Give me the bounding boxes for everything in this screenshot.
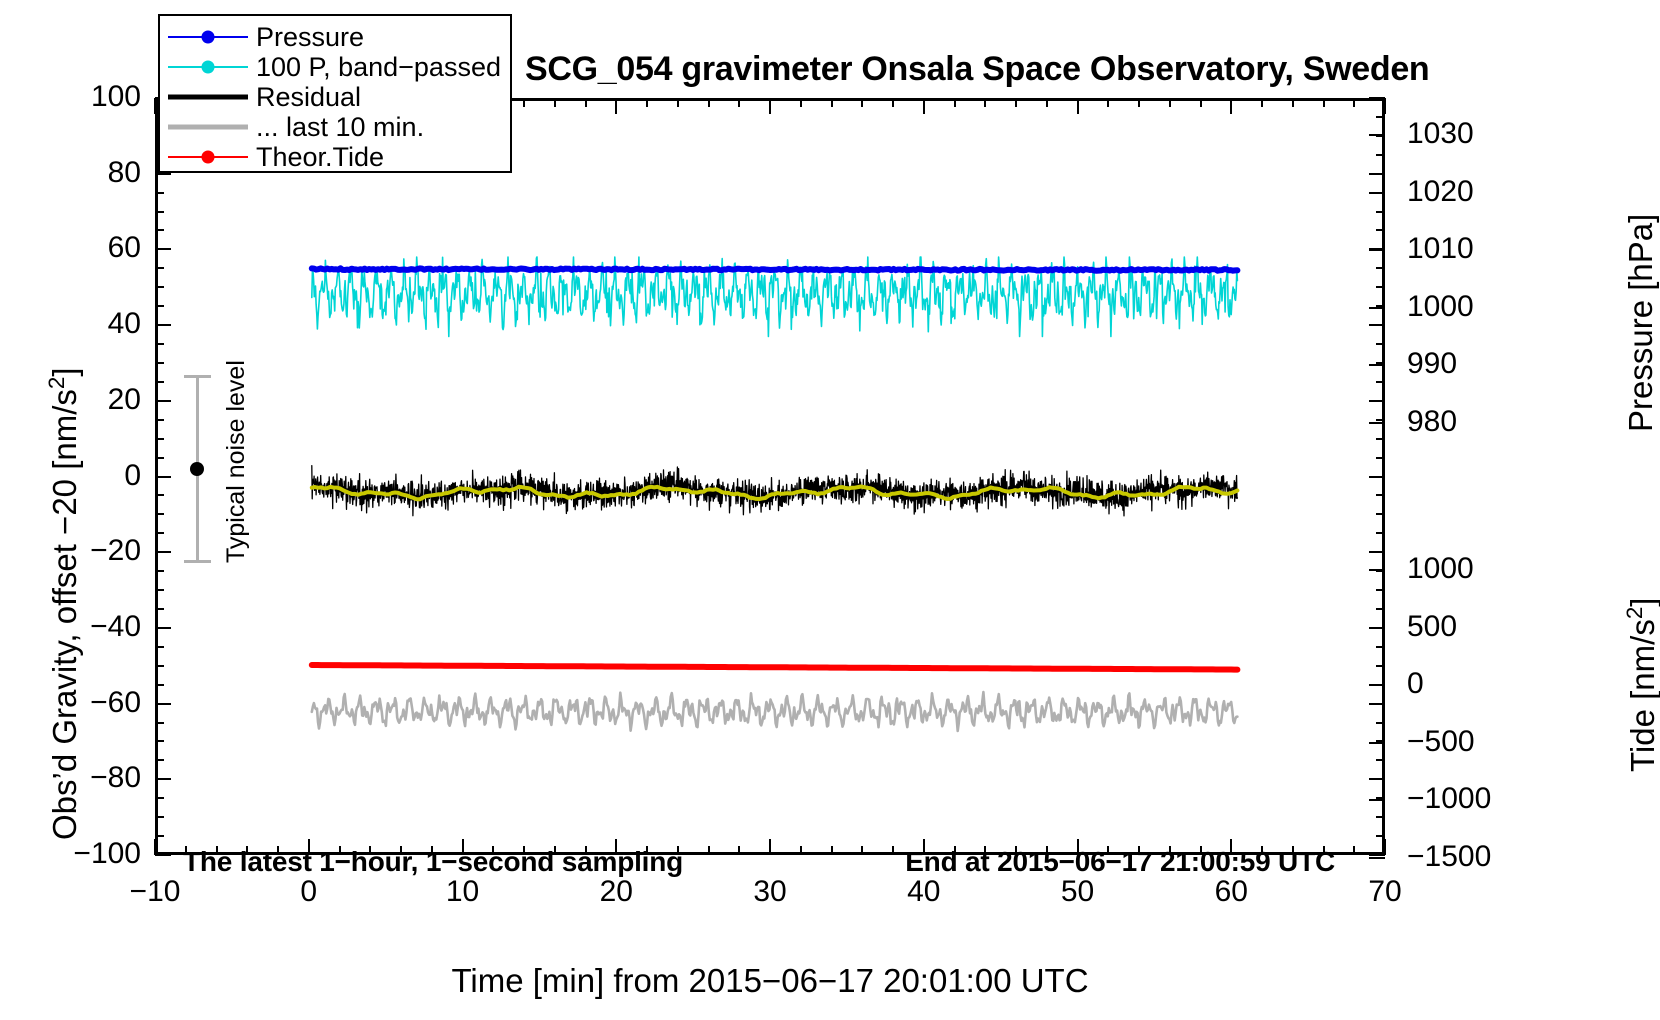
y-right-tick — [1376, 532, 1385, 534]
x-bottom-tick — [738, 846, 740, 855]
x-tick-label: 0 — [249, 877, 369, 907]
y-left-tick — [155, 267, 164, 269]
legend-line — [168, 125, 248, 130]
x-tick-label: 50 — [1018, 877, 1138, 907]
y-right-tick — [1369, 778, 1385, 780]
legend-label: Theor.Tide — [256, 144, 384, 171]
legend-swatch — [160, 112, 256, 142]
y-right-tick — [1376, 835, 1385, 837]
y-left-tick — [155, 438, 164, 440]
y-right-tick — [1376, 438, 1385, 440]
y-left-tick — [155, 570, 164, 572]
y-left-tick-label: 40 — [23, 309, 141, 339]
data-series-layer — [158, 101, 1382, 852]
x-top-tick — [738, 98, 740, 107]
y-right-tide-tick-label: −500 — [1407, 727, 1547, 757]
y-right-tick — [1376, 494, 1385, 496]
y-axis-tide-title: Tide [nm/s2] — [1622, 598, 1660, 772]
y-left-tick — [155, 457, 164, 459]
y-right-tick — [1376, 229, 1385, 231]
series-pressure — [312, 268, 1238, 270]
legend-label: Residual — [256, 84, 361, 111]
x-tick-label: 30 — [710, 877, 830, 907]
y-left-tick — [155, 381, 164, 383]
y-left-tick — [155, 778, 171, 780]
y-left-tick — [155, 740, 164, 742]
x-bottom-tick — [861, 846, 863, 855]
y-axis-pressure-title: Pressure [hPa] — [1622, 214, 1660, 432]
x-top-tick — [1138, 98, 1140, 107]
x-top-tick — [1230, 98, 1232, 114]
y-right-tick — [1369, 173, 1385, 175]
legend: Pressure100 P, band−passedResidual... la… — [158, 14, 512, 173]
y-right-tick — [1369, 400, 1385, 402]
y-right-tide-tick-label: 0 — [1407, 669, 1547, 699]
noise-bar-bottom-cap — [184, 560, 211, 563]
legend-swatch — [160, 142, 256, 172]
x-top-tick — [554, 98, 556, 107]
y-left-tick — [155, 551, 171, 553]
x-tick-label: 40 — [864, 877, 984, 907]
y-right-pressure-tick-label: 980 — [1407, 407, 1517, 437]
x-top-tick — [154, 98, 156, 114]
y-right-pressure-tick-label: 990 — [1407, 349, 1517, 379]
x-tick-label: −10 — [95, 877, 215, 907]
x-top-tick — [677, 98, 679, 107]
legend-label: 100 P, band−passed — [256, 54, 501, 81]
y-right-tick — [1369, 97, 1385, 99]
y-right-tick — [1376, 116, 1385, 118]
y-right-tick — [1376, 286, 1385, 288]
x-bottom-tick — [800, 846, 802, 855]
y-left-tick-label: 60 — [23, 233, 141, 263]
y-left-tick — [155, 229, 164, 231]
y-right-pressure-tick — [1369, 134, 1385, 136]
x-top-tick — [954, 98, 956, 107]
x-top-tick — [831, 98, 833, 107]
legend-marker-dot — [202, 151, 215, 164]
y-left-tick — [155, 835, 164, 837]
y-left-tick — [155, 627, 171, 629]
y-right-tick — [1376, 665, 1385, 667]
y-right-pressure-tick — [1369, 422, 1385, 424]
y-right-tide-tick — [1369, 684, 1385, 686]
y-left-tick-label: −100 — [23, 839, 141, 869]
y-right-tick — [1376, 419, 1385, 421]
chart-title: SCG_054 gravimeter Onsala Space Observat… — [525, 50, 1365, 89]
y-left-tick — [155, 476, 171, 478]
y-right-tide-tick-label: 500 — [1407, 612, 1547, 642]
y-left-tick-label: 100 — [23, 82, 141, 112]
y-right-tick — [1376, 722, 1385, 724]
legend-marker-dot — [202, 31, 215, 44]
y-left-tick — [155, 419, 164, 421]
y-right-pressure-tick — [1369, 192, 1385, 194]
y-left-tick — [155, 494, 164, 496]
y-left-tick — [155, 513, 164, 515]
x-bottom-tick — [831, 846, 833, 855]
y-right-tick — [1376, 589, 1385, 591]
x-top-tick — [769, 98, 771, 114]
legend-swatch — [160, 22, 256, 52]
y-left-tick — [155, 759, 164, 761]
series-theoretical-tide — [312, 665, 1238, 670]
x-top-tick — [1261, 98, 1263, 107]
y-right-pressure-tick — [1369, 307, 1385, 309]
y-right-pressure-tick — [1369, 249, 1385, 251]
x-top-tick — [1323, 98, 1325, 107]
x-bottom-tick — [892, 846, 894, 855]
legend-item: ... last 10 min. — [160, 112, 510, 142]
x-bottom-tick — [708, 846, 710, 855]
x-top-tick — [1200, 98, 1202, 107]
x-bottom-tick — [769, 839, 771, 855]
x-top-tick — [1292, 98, 1294, 107]
y-left-tick — [155, 722, 164, 724]
x-top-tick — [892, 98, 894, 107]
y-left-tick — [155, 703, 171, 705]
chart-canvas: SCG_054 gravimeter Onsala Space Observat… — [0, 0, 1660, 1020]
y-right-pressure-tick-label: 1030 — [1407, 119, 1517, 149]
noise-level-label: Typical noise level — [222, 360, 251, 563]
legend-item: Pressure — [160, 22, 510, 52]
y-right-tick — [1376, 381, 1385, 383]
x-bottom-tick — [1353, 846, 1355, 855]
x-tick-label: 70 — [1325, 877, 1445, 907]
y-left-tick — [155, 305, 164, 307]
y-axis-left-title: Obs’d Gravity, offset −20 [nm/s2] — [44, 367, 84, 840]
y-right-tide-tick-label: 1000 — [1407, 554, 1547, 584]
y-right-tick — [1376, 608, 1385, 610]
y-left-tick — [155, 400, 171, 402]
legend-line — [168, 95, 248, 100]
legend-label: Pressure — [256, 24, 364, 51]
y-right-tide-tick — [1369, 857, 1385, 859]
y-left-tick — [155, 192, 164, 194]
y-right-tick — [1376, 759, 1385, 761]
y-left-tick — [155, 362, 164, 364]
y-right-tick — [1369, 324, 1385, 326]
legend-item: 100 P, band−passed — [160, 52, 510, 82]
legend-item: Residual — [160, 82, 510, 112]
x-top-tick — [1107, 98, 1109, 107]
plot-area — [155, 98, 1385, 855]
y-left-tick — [155, 343, 164, 345]
y-right-tide-tick — [1369, 799, 1385, 801]
y-left-tick-label: 80 — [23, 158, 141, 188]
x-top-tick — [1169, 98, 1171, 107]
y-left-tick — [155, 797, 164, 799]
y-left-tick — [155, 608, 164, 610]
y-right-tick — [1369, 476, 1385, 478]
y-left-tick — [155, 532, 164, 534]
x-top-tick — [861, 98, 863, 107]
x-top-tick — [523, 98, 525, 107]
x-top-tick — [984, 98, 986, 107]
noise-center-dot — [190, 462, 204, 476]
y-right-tick — [1376, 513, 1385, 515]
x-top-tick — [1046, 98, 1048, 107]
y-right-tide-tick — [1369, 627, 1385, 629]
x-top-tick — [615, 98, 617, 114]
x-top-tick — [708, 98, 710, 107]
x-top-tick — [1077, 98, 1079, 114]
y-right-tide-tick — [1369, 742, 1385, 744]
y-right-tick — [1369, 703, 1385, 705]
x-top-tick — [923, 98, 925, 114]
legend-swatch — [160, 52, 256, 82]
y-left-tick — [155, 816, 164, 818]
x-top-tick — [800, 98, 802, 107]
y-left-tick — [155, 665, 164, 667]
x-top-tick — [1015, 98, 1017, 107]
x-top-tick — [1353, 98, 1355, 107]
sampling-note: The latest 1−hour, 1−second sampling — [183, 846, 683, 878]
y-right-tick — [1376, 343, 1385, 345]
x-tick-label: 10 — [403, 877, 523, 907]
y-right-pressure-tick-label: 1010 — [1407, 234, 1517, 264]
x-axis-title: Time [min] from 2015−06−17 20:01:00 UTC — [0, 962, 1540, 1000]
typical-noise-level-annotation: Typical noise level — [178, 375, 268, 585]
y-right-tick — [1376, 457, 1385, 459]
x-bottom-tick — [1384, 839, 1386, 855]
y-right-tick — [1376, 646, 1385, 648]
y-right-tick — [1376, 211, 1385, 213]
y-left-tick — [155, 211, 164, 213]
y-left-tick — [155, 854, 171, 856]
end-time-note: End at 2015−06−17 21:00:59 UTC — [905, 846, 1335, 878]
legend-label: ... last 10 min. — [256, 114, 424, 141]
y-right-tide-tick-label: −1500 — [1407, 842, 1547, 872]
y-left-tick — [155, 248, 171, 250]
x-tick-label: 20 — [556, 877, 676, 907]
x-bottom-tick — [154, 839, 156, 855]
legend-swatch — [160, 82, 256, 112]
y-left-tick — [155, 646, 164, 648]
y-right-pressure-tick-label: 1000 — [1407, 292, 1517, 322]
legend-item: Theor.Tide — [160, 142, 510, 172]
y-left-tick — [155, 286, 164, 288]
y-left-tick — [155, 589, 164, 591]
y-right-tick — [1376, 154, 1385, 156]
series-last-10-min — [312, 692, 1238, 731]
y-right-tick — [1369, 551, 1385, 553]
y-right-tide-tick — [1369, 569, 1385, 571]
y-left-tick — [155, 324, 171, 326]
x-top-tick — [646, 98, 648, 107]
y-left-tick — [155, 684, 164, 686]
y-right-pressure-tick — [1369, 364, 1385, 366]
x-top-tick — [585, 98, 587, 107]
y-right-pressure-tick-label: 1020 — [1407, 177, 1517, 207]
y-right-tick — [1376, 816, 1385, 818]
x-tick-label: 60 — [1171, 877, 1291, 907]
y-right-tide-tick-label: −1000 — [1407, 784, 1547, 814]
legend-marker-dot — [202, 61, 215, 74]
y-right-tick — [1376, 267, 1385, 269]
x-top-tick — [1384, 98, 1386, 114]
